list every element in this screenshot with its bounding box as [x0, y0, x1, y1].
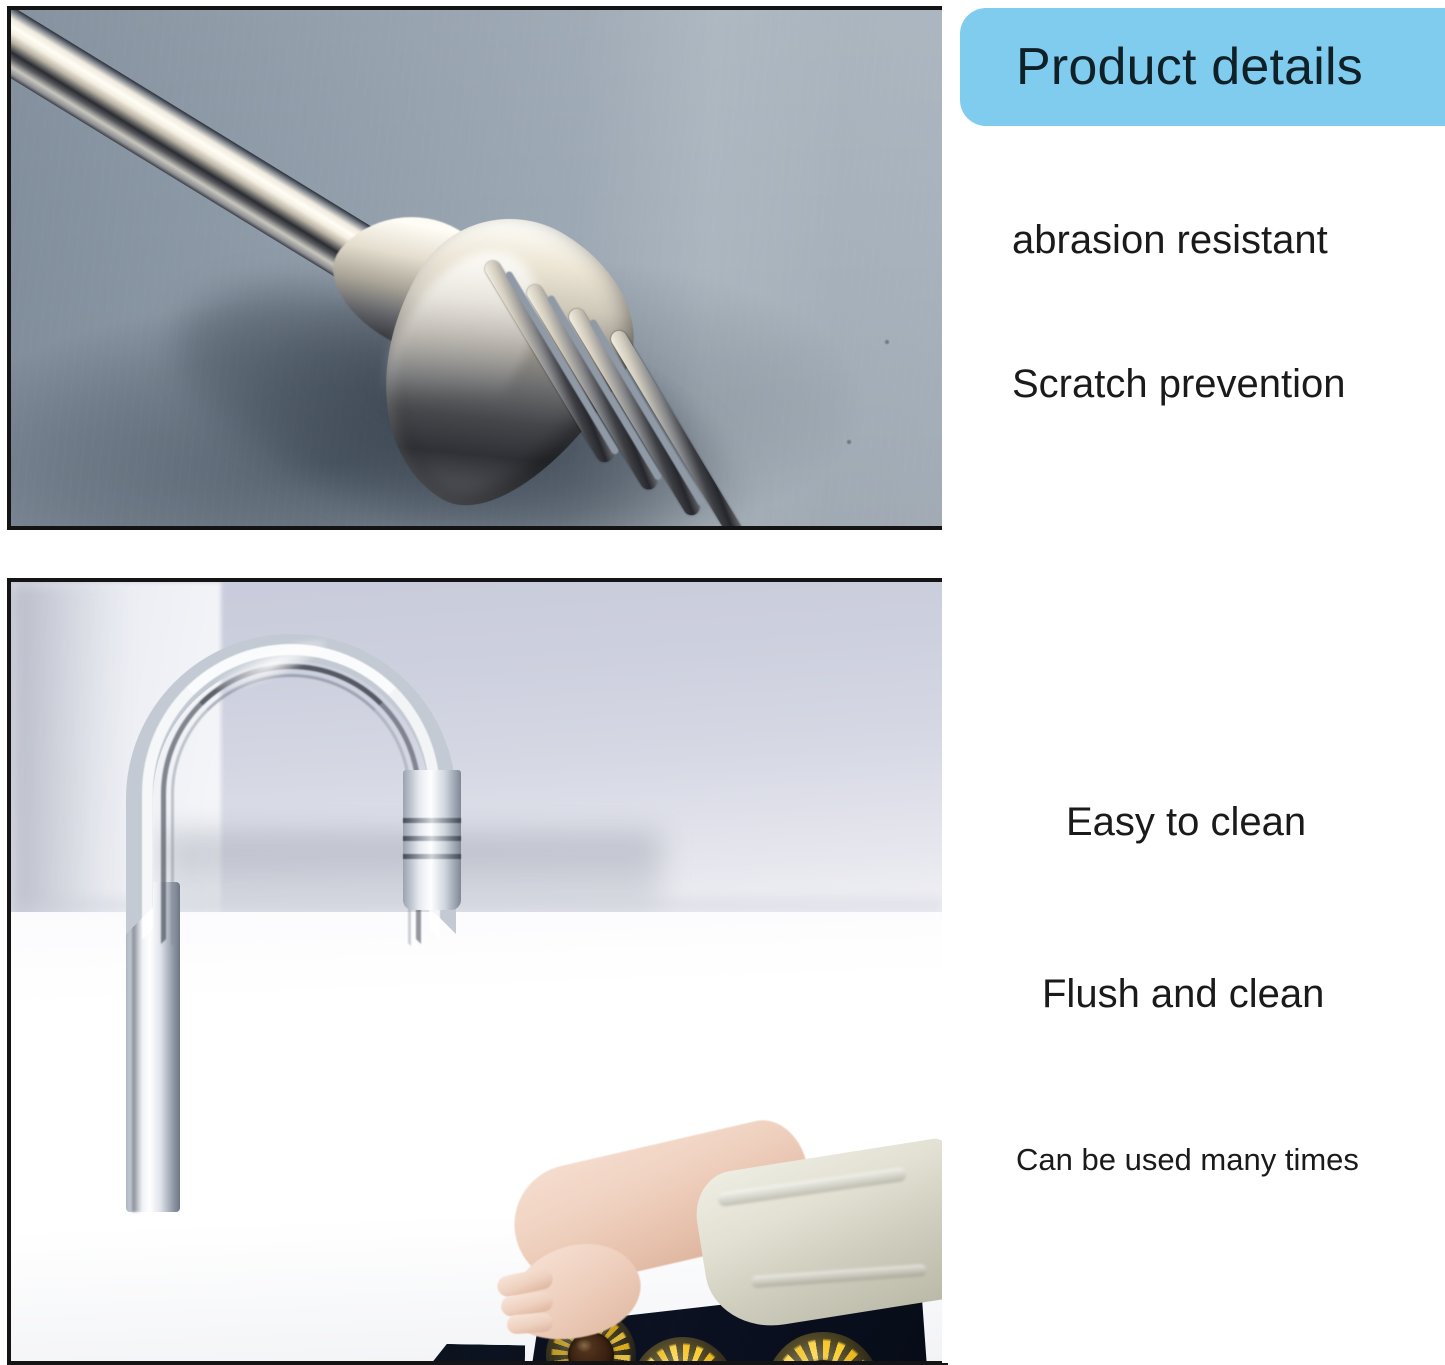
- product-detail-page: Product details abrasion resistant Scrat…: [0, 0, 1445, 1363]
- sunflower: [620, 1326, 746, 1361]
- feature-reusable: Can be used many times: [1016, 1142, 1359, 1178]
- finger-3: [506, 1312, 553, 1334]
- faucet-spout-ring-1: [403, 818, 461, 823]
- sunflower: [754, 1320, 892, 1361]
- faucet-spout-ring-3: [403, 854, 461, 859]
- feature-scratch-prevention: Scratch prevention: [1012, 362, 1346, 407]
- feature-easy-to-clean: Easy to clean: [1066, 800, 1306, 845]
- details-panel: Product details abrasion resistant Scrat…: [942, 0, 1445, 1363]
- surface-speck-2: [847, 440, 851, 444]
- feature-flush-and-clean: Flush and clean: [1042, 972, 1324, 1017]
- feature-abrasion-resistant: abrasion resistant: [1012, 218, 1328, 263]
- faucet-photo: [7, 578, 948, 1365]
- wall-shadow: [11, 582, 131, 942]
- product-details-title: Product details: [960, 41, 1363, 93]
- faucet-spout-ring-2: [403, 836, 461, 841]
- surface-speck-1: [885, 340, 889, 344]
- faucet-gooseneck-reflection-line: [171, 674, 411, 946]
- product-details-badge: Product details: [960, 8, 1445, 126]
- fork-photo: [7, 6, 950, 530]
